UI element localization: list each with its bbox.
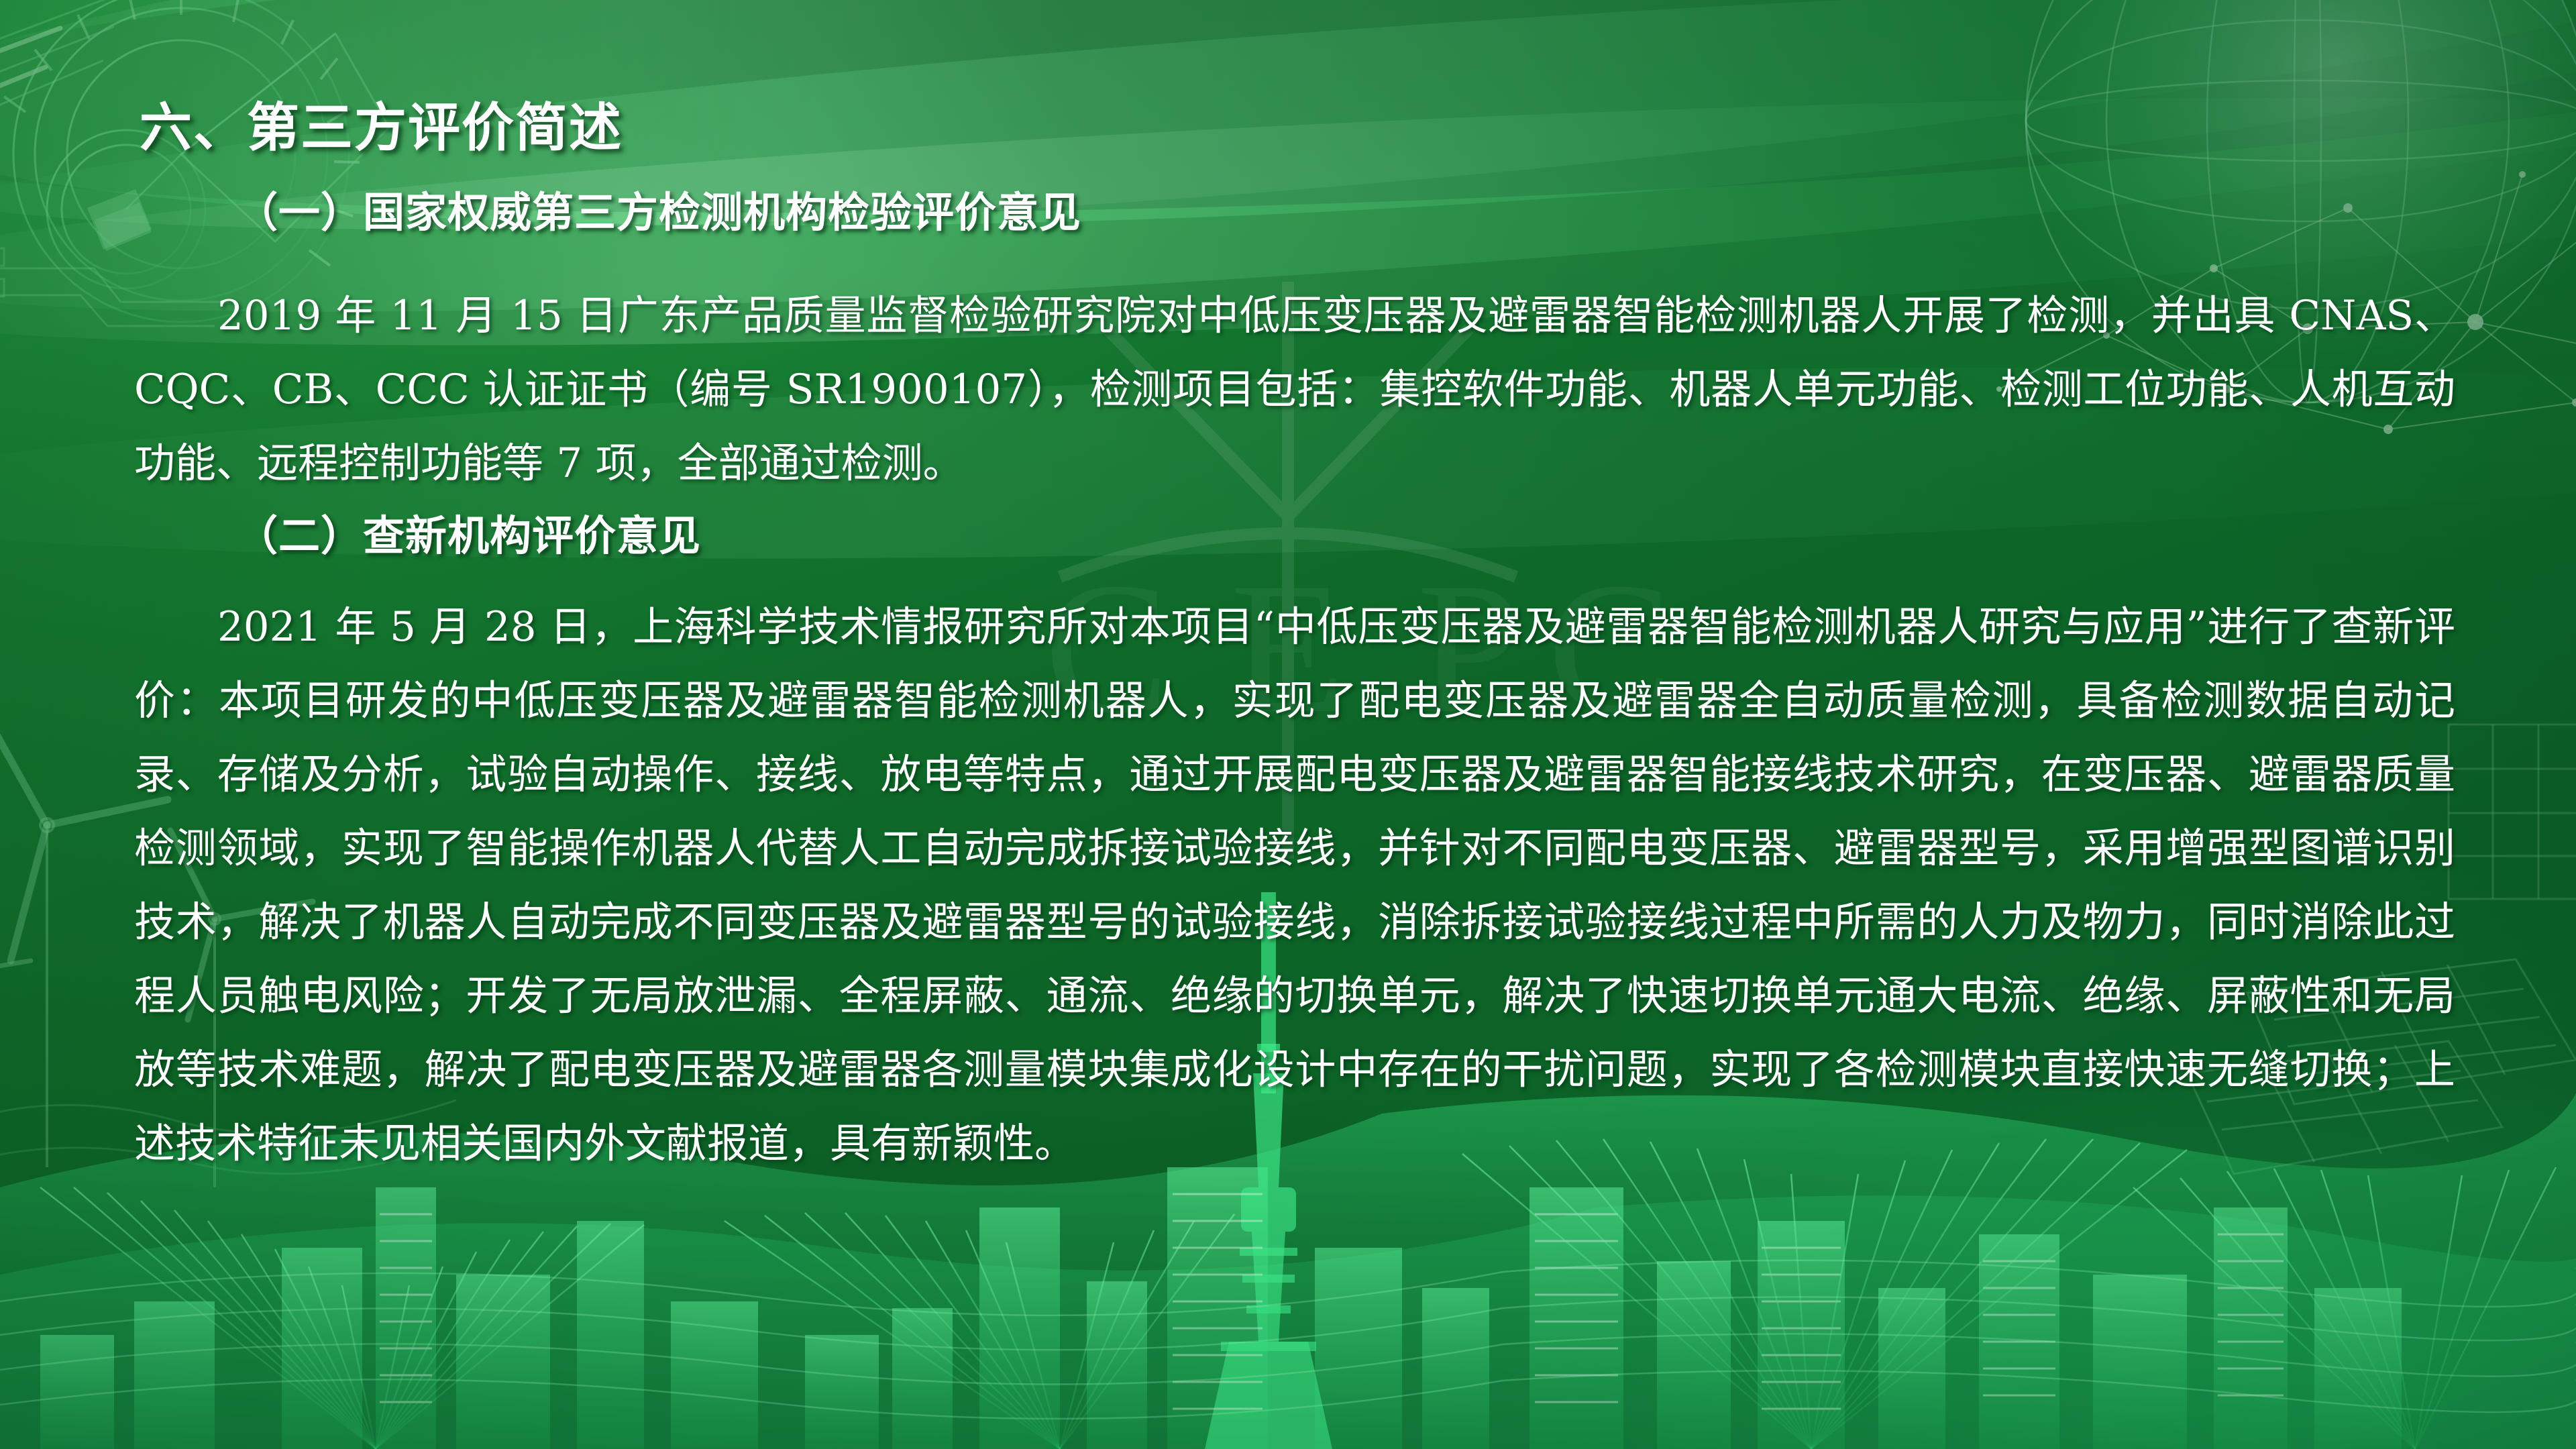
section-1-subheading: （一）国家权威第三方检测机构检验评价意见 <box>236 192 1081 233</box>
slide-root: C E P C <box>0 0 2576 1449</box>
section-2-paragraph: 2021 年 5 月 28 日，上海科学技术情报研究所对本项目“中低压变压器及避… <box>134 590 2455 1181</box>
page-title: 六、第三方评价简述 <box>140 102 623 154</box>
section-1-body: 2019 年 11 月 15 日广东产品质量监督检验研究院对中低压变压器及避雷器… <box>134 279 2455 500</box>
slide-content: 六、第三方评价简述 （一）国家权威第三方检测机构检验评价意见 2019 年 11… <box>0 0 2576 1449</box>
section-2-subheading: （二）查新机构评价意见 <box>236 515 701 557</box>
section-2-body: 2021 年 5 月 28 日，上海科学技术情报研究所对本项目“中低压变压器及避… <box>134 590 2455 1181</box>
section-1-paragraph: 2019 年 11 月 15 日广东产品质量监督检验研究院对中低压变压器及避雷器… <box>134 279 2455 500</box>
